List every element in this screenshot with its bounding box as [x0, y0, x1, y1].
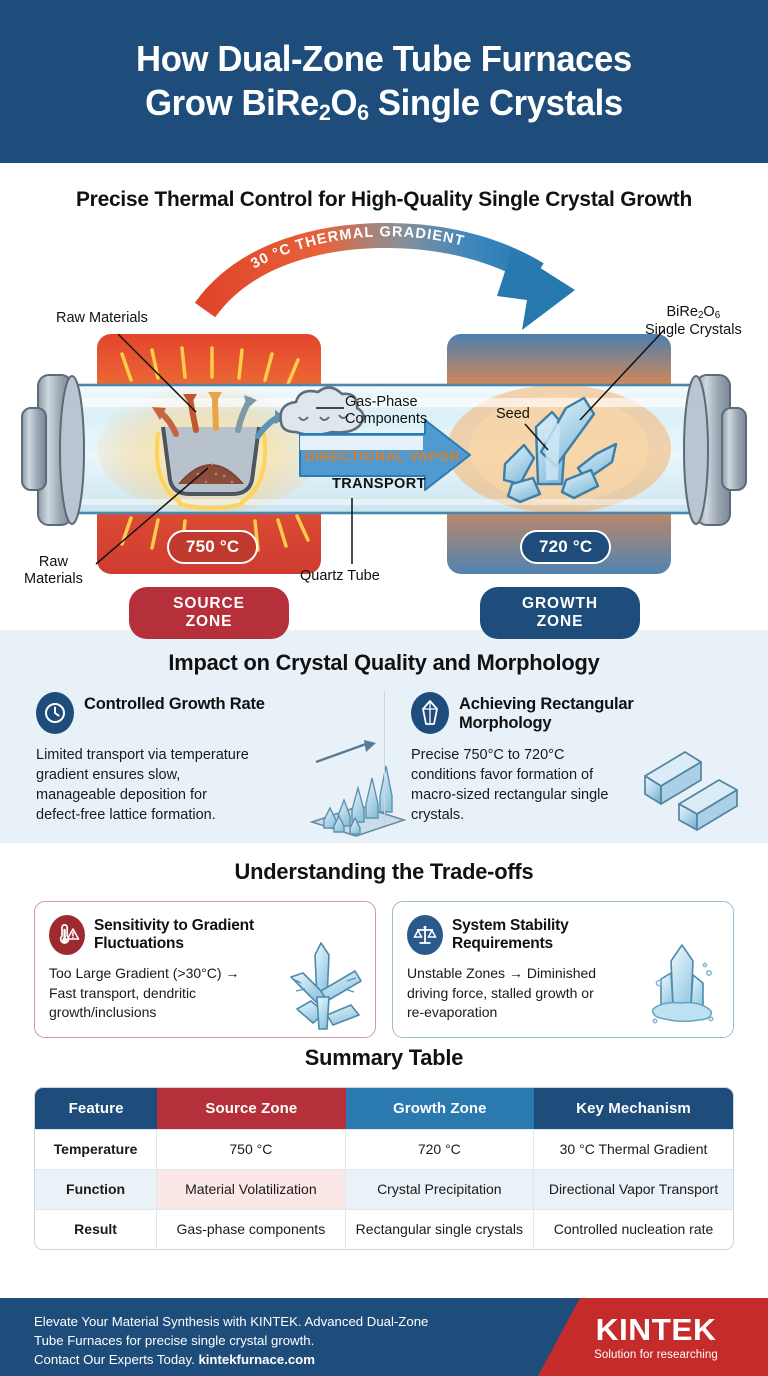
impact-item-controlled-growth-rate: Controlled Growth Rate Limited transport…: [36, 692, 384, 825]
crucible-with-raw-material: [157, 427, 265, 508]
summary-table-title: Summary Table: [12, 1045, 757, 1071]
tradeoff-card-stability: System Stability Requirements Unstable Z…: [392, 901, 734, 1038]
table-row: Result Gas-phase components Rectangular …: [35, 1209, 733, 1249]
table-cell: 720 °C: [346, 1129, 534, 1169]
rectangular-crystals-illustration: [639, 744, 749, 834]
label-directional-vapor: DIRECTIONAL VAPOR: [305, 448, 460, 465]
page-header: How Dual-Zone Tube Furnaces Grow BiRe2O6…: [0, 0, 768, 163]
growth-zone-pill: GROWTH ZONE: [480, 587, 640, 639]
label-quartz-tube: Quartz Tube: [300, 568, 380, 585]
table-cell: Function: [35, 1169, 157, 1209]
table-cell: Result: [35, 1209, 157, 1249]
table-header-cell: Growth Zone: [346, 1088, 534, 1129]
crystal-icon: [411, 692, 449, 734]
impact-title: Impact on Crystal Quality and Morphology: [12, 650, 757, 676]
tradeoff-card-title: Sensitivity to Gradient Fluctuations: [94, 915, 254, 953]
scales-icon: [407, 915, 443, 955]
footer-cta-text: Elevate Your Material Synthesis with KIN…: [34, 1312, 428, 1369]
table-row: Temperature 750 °C 720 °C 30 °C Thermal …: [35, 1129, 733, 1169]
table-cell: Directional Vapor Transport: [534, 1169, 733, 1209]
label-gas-phase-components: Gas-Phase Components: [345, 394, 427, 428]
kintek-logo: KINTEK Solution for researching: [566, 1314, 746, 1361]
tradeoff-card-sensitivity: Sensitivity to Gradient Fluctuations Too…: [34, 901, 376, 1038]
footer-banner: Elevate Your Material Synthesis with KIN…: [0, 1298, 768, 1376]
footer-website-link[interactable]: kintekfurnace.com: [198, 1352, 315, 1367]
table-cell: 30 °C Thermal Gradient: [534, 1129, 733, 1169]
tradeoff-card-body: Unstable Zones → Diminished driving forc…: [407, 964, 607, 1023]
label-seed: Seed: [496, 406, 530, 423]
table-header-row: Feature Source Zone Growth Zone Key Mech…: [35, 1088, 733, 1129]
source-temperature-badge: 750 °C: [167, 530, 258, 564]
table-header-cell: Feature: [35, 1088, 157, 1129]
table-cell: Controlled nucleation rate: [534, 1209, 733, 1249]
impact-item-rectangular-morphology: Achieving Rectangular Morphology Precise…: [384, 692, 732, 825]
table-cell: Material Volatilization: [157, 1169, 345, 1209]
table-cell: Gas-phase components: [157, 1209, 345, 1249]
dendritic-crystal-illustration: [281, 939, 367, 1031]
logo-tagline: Solution for researching: [566, 1349, 746, 1361]
source-zone-pill: SOURCE ZONE: [129, 587, 289, 639]
title-subscript-2: 2: [319, 100, 331, 125]
tube-right-flange: [684, 375, 746, 525]
label-raw-materials-top: Raw Materials: [56, 310, 148, 327]
tradeoffs-title: Understanding the Trade-offs: [12, 859, 757, 885]
furnace-diagram: 30 °C THERMAL GRADIENT: [0, 212, 768, 612]
summary-table-section: Summary Table Feature Source Zone Growth…: [0, 1041, 768, 1276]
table-header-cell: Key Mechanism: [534, 1088, 733, 1129]
thermal-gradient-arrow: 30 °C THERMAL GRADIENT: [205, 224, 575, 330]
growth-temperature-badge: 720 °C: [520, 530, 611, 564]
tradeoffs-section: Understanding the Trade-offs Sensitivity…: [0, 843, 768, 1041]
label-transport: TRANSPORT: [332, 476, 426, 493]
title-line-1: How Dual-Zone Tube Furnaces: [136, 38, 632, 79]
tradeoff-card-body: Too Large Gradient (>30°C) → Fast transp…: [49, 964, 249, 1023]
logo-brand-name: KINTEK: [564, 1314, 748, 1345]
clock-icon: [36, 692, 74, 734]
impact-item-body: Limited transport via temperature gradie…: [36, 745, 251, 825]
table-cell: 750 °C: [157, 1129, 345, 1169]
table-header-cell: Source Zone: [157, 1088, 345, 1129]
diagram-section: Precise Thermal Control for High-Quality…: [0, 163, 768, 630]
page-title: How Dual-Zone Tube Furnaces Grow BiRe2O6…: [136, 37, 632, 126]
tradeoff-card-title: System Stability Requirements: [452, 915, 569, 953]
label-product-crystals: BiRe2O6 Single Crystals: [645, 304, 742, 339]
label-raw-materials-bottom: Raw Materials: [24, 554, 83, 588]
title-subscript-6: 6: [357, 100, 369, 125]
title-line-2-b: O: [331, 82, 358, 123]
thermometer-warning-icon: [49, 915, 85, 955]
impact-item-title: Achieving Rectangular Morphology: [459, 692, 634, 733]
impact-item-title: Controlled Growth Rate: [84, 692, 265, 714]
title-line-2-c: Single Crystals: [369, 82, 623, 123]
table-row: Function Material Volatilization Crystal…: [35, 1169, 733, 1209]
tube-left-flange: [22, 375, 84, 525]
title-line-2-a: Grow BiRe: [145, 82, 319, 123]
impact-item-body: Precise 750°C to 720°C conditions favor …: [411, 745, 626, 825]
table-cell: Temperature: [35, 1129, 157, 1169]
diagram-subtitle: Precise Thermal Control for High-Quality…: [12, 163, 757, 212]
table-cell: Rectangular single crystals: [346, 1209, 534, 1249]
summary-table: Feature Source Zone Growth Zone Key Mech…: [34, 1087, 734, 1250]
impact-section: Impact on Crystal Quality and Morphology…: [0, 630, 768, 843]
evaporating-crystal-illustration: [639, 939, 725, 1031]
table-cell: Crystal Precipitation: [346, 1169, 534, 1209]
